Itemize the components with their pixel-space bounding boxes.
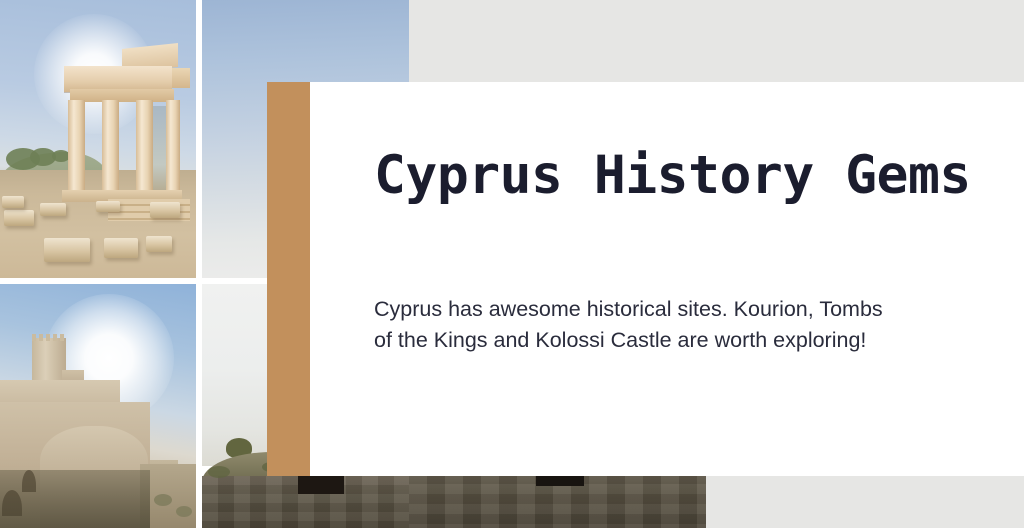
wall-recess xyxy=(298,474,344,494)
slide: Cyprus History Gems Cyprus has awesome h… xyxy=(0,0,1024,528)
column xyxy=(68,100,85,192)
fallen-stone xyxy=(104,238,138,258)
fallen-stone xyxy=(44,238,90,262)
slide-body-text: Cyprus has awesome historical sites. Kou… xyxy=(374,294,894,356)
scrub-bush xyxy=(154,494,172,506)
temple-ruins-photo xyxy=(0,0,196,278)
slide-title: Cyprus History Gems xyxy=(374,145,971,206)
fallen-stone xyxy=(40,203,66,216)
fallen-stone xyxy=(2,196,24,208)
fallen-stone xyxy=(4,210,34,226)
fallen-stone xyxy=(146,236,172,252)
fallen-stone xyxy=(96,201,120,212)
castle-photo xyxy=(0,284,196,528)
column xyxy=(102,100,119,192)
accent-bar xyxy=(267,82,310,476)
content-card: Cyprus History Gems Cyprus has awesome h… xyxy=(310,82,1024,476)
battlements xyxy=(32,334,66,341)
column xyxy=(136,100,153,192)
entablature-lower xyxy=(70,89,174,102)
grass-patch xyxy=(208,466,230,478)
fallen-stone xyxy=(150,202,180,218)
column xyxy=(166,100,180,192)
foreground-shadow xyxy=(0,470,150,528)
scrub-bush xyxy=(176,506,192,517)
temple-structure xyxy=(62,44,190,220)
